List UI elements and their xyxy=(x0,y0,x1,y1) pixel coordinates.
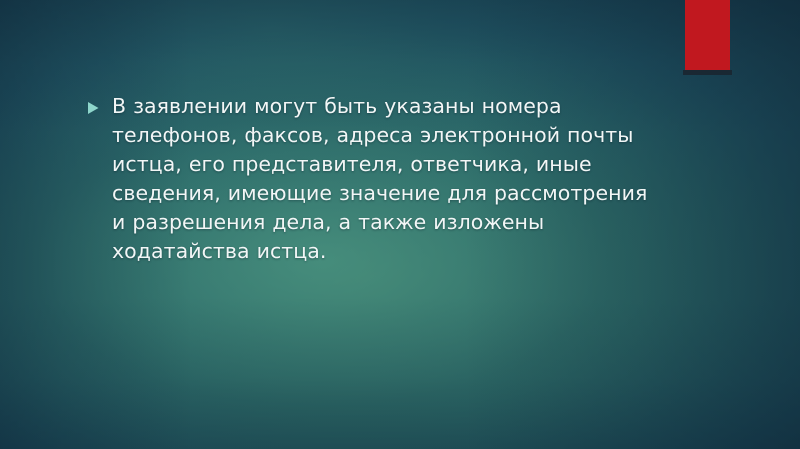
presentation-slide: В заявлении могут быть указаны номера те… xyxy=(0,0,800,449)
bullet-list-item: В заявлении могут быть указаны номера те… xyxy=(88,92,654,266)
red-accent-rectangle-shadow xyxy=(683,70,732,75)
slide-body-text-block: В заявлении могут быть указаны номера те… xyxy=(88,92,654,266)
red-accent-rectangle xyxy=(685,0,730,70)
red-accent-rectangle-fill xyxy=(685,0,730,70)
bullet-item-text: В заявлении могут быть указаны номера те… xyxy=(112,92,654,266)
triangle-right-icon xyxy=(88,92,112,114)
